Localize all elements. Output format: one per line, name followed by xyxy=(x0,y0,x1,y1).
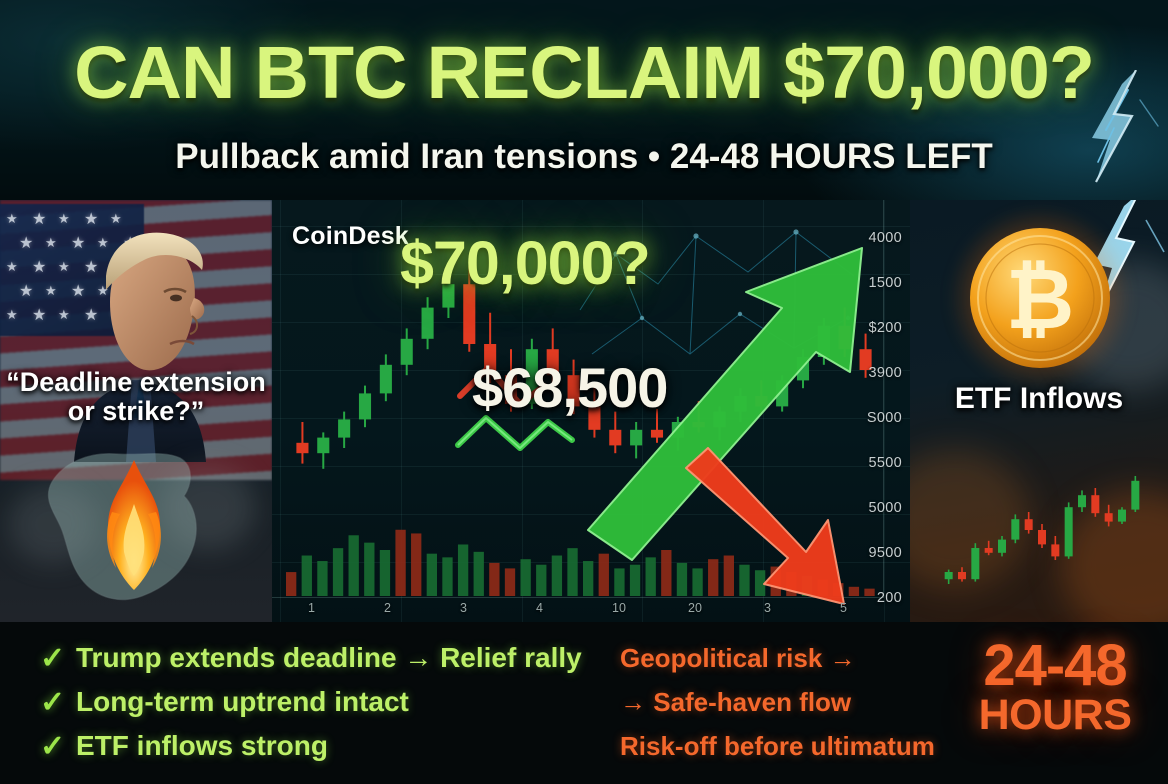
bullish-point: ✓Long-term uptrend intact xyxy=(40,680,620,724)
y-tick-label: $200 xyxy=(869,320,902,336)
candle-body xyxy=(1038,530,1046,544)
y-tick-label: 9500 xyxy=(869,545,902,561)
etf-inflows-label: ETF Inflows xyxy=(910,382,1168,416)
star-icon: ★ xyxy=(6,212,18,225)
bitcoin-symbol: ₿ xyxy=(1006,252,1074,346)
countdown-badge: 24-48 HOURS xyxy=(960,638,1150,737)
panel-row: ★★★★★★★★★★★★★★★★★★★★★★★★★ xyxy=(0,200,1168,622)
candle-body xyxy=(1051,544,1059,556)
y-tick-label: 1500 xyxy=(869,275,902,291)
candle-body xyxy=(985,548,993,553)
smoke-puff xyxy=(8,484,98,564)
trump-quote: “Deadline extension or strike?” xyxy=(0,368,272,425)
target-price-label: $70,000? xyxy=(400,228,650,298)
header-banner: CAN BTC RECLAIM $70,000? Pullback amid I… xyxy=(0,0,1168,200)
risk-point-label: → Safe-haven flow xyxy=(620,687,851,718)
star-icon: ★ xyxy=(6,308,18,321)
thumbnail-root: CAN BTC RECLAIM $70,000? Pullback amid I… xyxy=(0,0,1168,784)
x-tick-label: 3 xyxy=(764,601,771,615)
candle-body xyxy=(1025,519,1033,530)
candle-body xyxy=(1065,507,1073,556)
right-panel-etf: ₿ ETF Inflows xyxy=(910,200,1168,622)
risk-points-list: Geopolitical risk →→ Safe-haven flowRisk… xyxy=(620,636,980,768)
candle-body xyxy=(971,548,979,579)
candle-body xyxy=(1131,481,1139,510)
x-tick-label: 10 xyxy=(612,601,626,615)
bitcoin-coin: ₿ xyxy=(966,224,1114,372)
star-icon: ★ xyxy=(6,260,18,273)
candle-body xyxy=(1091,495,1099,513)
candle-body xyxy=(945,572,953,579)
etf-inflow-candles xyxy=(910,456,1168,606)
bullish-point: ✓ETF inflows strong xyxy=(40,724,620,768)
bullish-points-list: ✓Trump extends deadline → Relief rally✓L… xyxy=(40,636,620,768)
left-panel-geopolitics: ★★★★★★★★★★★★★★★★★★★★★★★★★ xyxy=(0,200,272,622)
price-chart-panel: CoinDesk $70,000? $68,500 40001500$20039… xyxy=(272,200,910,622)
footer-summary: ✓Trump extends deadline → Relief rally✓L… xyxy=(0,622,1168,784)
x-tick-label: 20 xyxy=(688,601,702,615)
candle-body xyxy=(1118,510,1126,522)
bullish-point-label: ETF inflows strong xyxy=(76,730,328,762)
candle-body xyxy=(1078,495,1086,507)
risk-point: → Safe-haven flow xyxy=(620,680,980,724)
risk-point-label: Risk-off before ultimatum xyxy=(620,731,935,762)
y-tick-label: 200 xyxy=(877,590,902,606)
page-subtitle: Pullback amid Iran tensions • 24-48 HOUR… xyxy=(0,137,1168,177)
y-tick-label: 3900 xyxy=(869,365,902,381)
check-icon: ✓ xyxy=(40,729,76,764)
risk-point: Geopolitical risk → xyxy=(620,636,980,680)
bullish-point: ✓Trump extends deadline → Relief rally xyxy=(40,636,620,680)
candle-body xyxy=(1011,519,1019,539)
risk-point: Risk-off before ultimatum xyxy=(620,724,980,768)
star-icon: ★ xyxy=(19,284,33,300)
chart-source-label: CoinDesk xyxy=(292,222,409,251)
bullish-point-label: Trump extends deadline → Relief rally xyxy=(76,642,582,674)
page-title: CAN BTC RECLAIM $70,000? xyxy=(0,36,1168,110)
iran-map-region xyxy=(24,438,234,622)
candle-body xyxy=(958,572,966,579)
risk-point-label: Geopolitical risk → xyxy=(620,643,856,674)
y-tick-label: 4000 xyxy=(869,230,902,246)
candle-body xyxy=(1105,513,1113,521)
star-icon: ★ xyxy=(19,236,33,252)
x-tick-label: 3 xyxy=(460,601,467,615)
current-price-label: $68,500 xyxy=(472,355,667,420)
check-icon: ✓ xyxy=(40,685,76,720)
countdown-range: 24-48 xyxy=(960,638,1150,694)
x-tick-label: 4 xyxy=(536,601,543,615)
fire-icon xyxy=(86,456,182,596)
x-tick-label: 5 xyxy=(840,601,847,615)
y-tick-label: S000 xyxy=(867,410,902,426)
countdown-unit: HOURS xyxy=(960,694,1150,737)
x-tick-label: 1 xyxy=(308,601,315,615)
bullish-point-label: Long-term uptrend intact xyxy=(76,686,409,718)
candle-body xyxy=(998,540,1006,553)
y-tick-label: 5500 xyxy=(869,455,902,471)
check-icon: ✓ xyxy=(40,641,76,676)
x-tick-label: 2 xyxy=(384,601,391,615)
y-tick-label: 5000 xyxy=(869,500,902,516)
bearish-arrow xyxy=(686,448,844,604)
